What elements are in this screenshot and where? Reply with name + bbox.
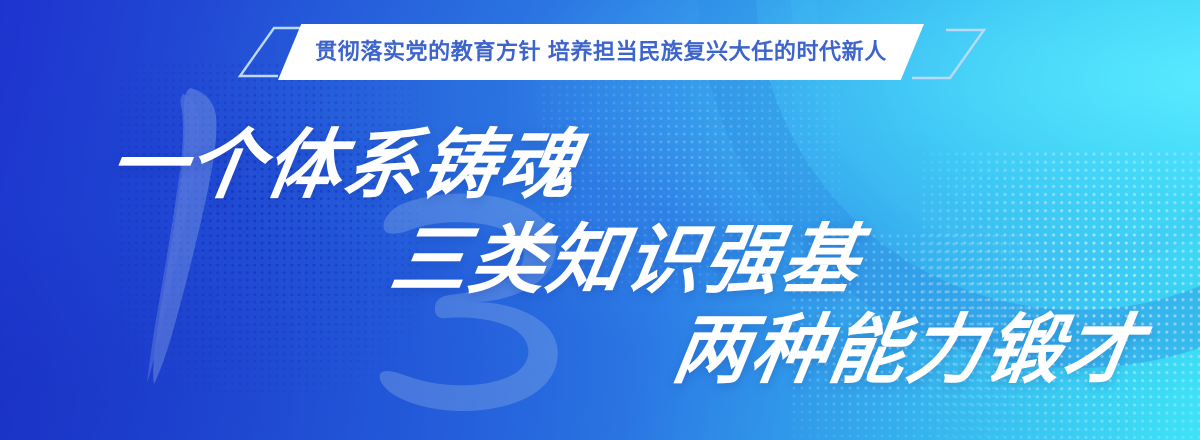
promo-banner: 贯彻落实党的教育方针 培养担当民族复兴大任的时代新人 一个体系铸魂 三类知识强基… <box>0 0 1200 440</box>
header-row: 贯彻落实党的教育方针 培养担当民族复兴大任的时代新人 <box>0 24 1200 84</box>
angle-bracket-right-icon <box>910 26 988 80</box>
brush-stroke-three-icon <box>370 188 590 418</box>
brush-stroke-one-icon <box>128 86 238 386</box>
header-subtitle: 贯彻落实党的教育方针 培养担当民族复兴大任的时代新人 <box>315 41 887 63</box>
header-banner-shape: 贯彻落实党的教育方针 培养担当民族复兴大任的时代新人 <box>278 24 924 80</box>
dot-grid-right-icon <box>920 150 1200 440</box>
